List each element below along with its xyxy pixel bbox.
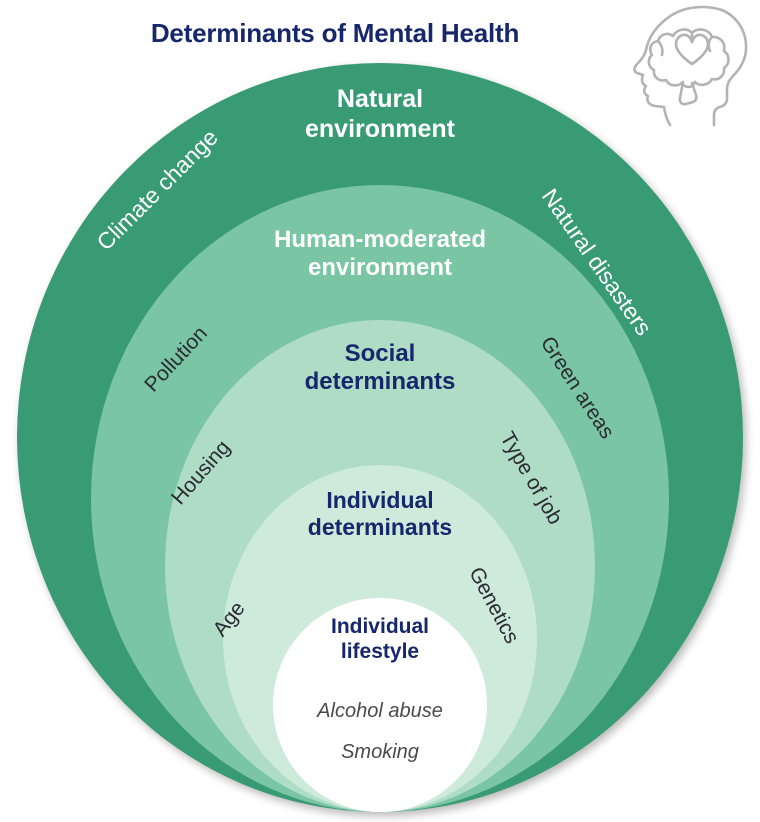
ring-heading-social-determinants: Social determinants (0, 340, 760, 397)
ring-heading-individual-lifestyle: Individual lifestyle (0, 615, 760, 665)
lifestyle-item-alcohol-abuse: Alcohol abuse (0, 700, 760, 723)
lifestyle-item-smoking: Smoking (0, 741, 760, 764)
ring-heading-individual-determinants: Individual determinants (0, 487, 760, 541)
diagram-canvas: Determinants of Mental Health Natural en… (0, 0, 760, 822)
ring-heading-natural-environment: Natural environment (0, 85, 760, 144)
